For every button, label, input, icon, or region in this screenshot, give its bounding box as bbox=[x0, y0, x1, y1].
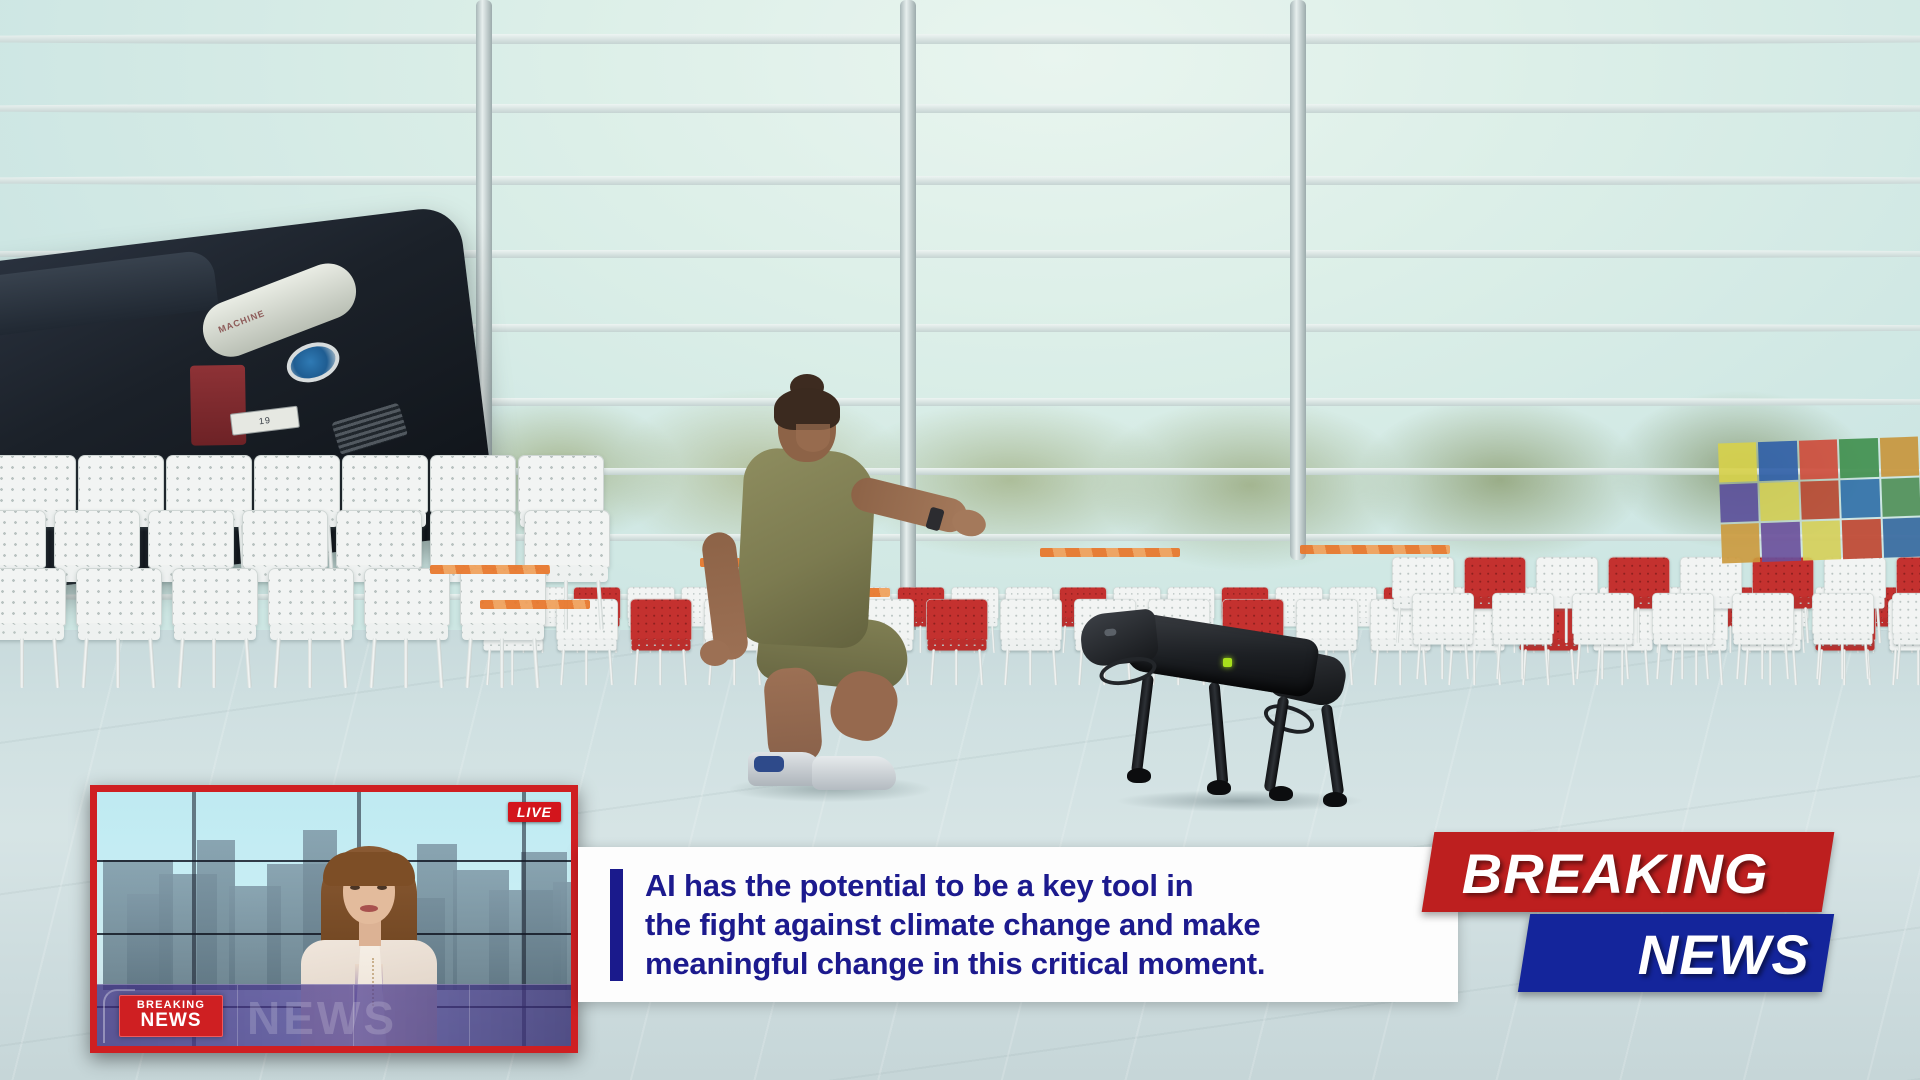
vehicle-cylinder-label: MACHINE bbox=[217, 308, 266, 335]
chair-leg bbox=[1718, 649, 1723, 685]
chair-back bbox=[1572, 593, 1634, 635]
chair-leg bbox=[177, 638, 184, 688]
chair-leg bbox=[1704, 643, 1709, 679]
chair-leg bbox=[81, 638, 88, 688]
chair-leg bbox=[1784, 643, 1789, 679]
chair-back bbox=[336, 510, 422, 568]
dome-ring bbox=[0, 34, 1920, 44]
crate bbox=[1800, 480, 1840, 520]
chair bbox=[1572, 593, 1634, 679]
chair-leg bbox=[52, 638, 59, 688]
chair-back bbox=[364, 568, 450, 626]
chair-leg bbox=[1544, 643, 1549, 679]
crate bbox=[1879, 437, 1919, 477]
chair-back bbox=[518, 455, 604, 513]
caption-line-1: AI has the potential to be a key tool in bbox=[645, 866, 1265, 905]
chair-leg bbox=[148, 638, 155, 688]
robot-foot-rear-near bbox=[1269, 786, 1293, 801]
chair bbox=[1492, 593, 1554, 679]
person-torso bbox=[735, 447, 877, 650]
crate bbox=[1881, 477, 1920, 517]
pip-breaking-news-badge: BREAKING NEWS bbox=[119, 995, 223, 1037]
chair-back bbox=[1652, 593, 1714, 635]
crate bbox=[1882, 518, 1920, 558]
pip-lower-third: NEWS BREAKING NEWS bbox=[97, 984, 571, 1046]
chair-leg bbox=[1441, 643, 1444, 679]
chair-back bbox=[1892, 593, 1920, 635]
chair-leg bbox=[659, 649, 662, 685]
crate bbox=[1760, 481, 1800, 521]
chair-leg bbox=[436, 638, 443, 688]
chair-back bbox=[268, 568, 354, 626]
dome-ring bbox=[0, 104, 1920, 113]
chair bbox=[0, 568, 66, 688]
robot-sensor-eye bbox=[1104, 628, 1117, 636]
crate bbox=[1839, 438, 1879, 478]
chair bbox=[1892, 593, 1920, 679]
crate bbox=[1719, 483, 1759, 523]
chair bbox=[172, 568, 258, 688]
person-shoe-right bbox=[812, 756, 896, 790]
crate bbox=[1840, 479, 1880, 519]
chair-leg bbox=[1029, 649, 1032, 685]
chair bbox=[1812, 593, 1874, 679]
logo-news-bar: NEWS bbox=[1518, 914, 1834, 992]
chair-leg bbox=[978, 649, 983, 685]
chair-leg bbox=[991, 625, 995, 653]
person-crouching bbox=[700, 372, 960, 832]
live-badge: LIVE bbox=[508, 802, 561, 822]
chair-back bbox=[430, 510, 516, 568]
robot-leg-front-far bbox=[1208, 682, 1228, 787]
pip-divider-2 bbox=[353, 985, 354, 1046]
chair-leg bbox=[1576, 643, 1581, 679]
chair bbox=[1652, 593, 1714, 679]
robot-leg-rear-far bbox=[1321, 704, 1345, 797]
picture-in-picture-feed[interactable]: LIVE NEWS BREAKING NEWS bbox=[90, 785, 578, 1053]
chair-leg bbox=[116, 638, 120, 688]
chair bbox=[76, 568, 162, 688]
chair-leg bbox=[596, 580, 603, 630]
chair-leg bbox=[1416, 643, 1421, 679]
chair-leg bbox=[1681, 643, 1684, 679]
chair-back bbox=[54, 510, 140, 568]
chair-leg bbox=[1736, 643, 1741, 679]
logo-news-text: NEWS bbox=[1638, 922, 1810, 987]
chair-leg bbox=[1896, 643, 1901, 679]
chair-leg bbox=[1062, 625, 1066, 653]
caption-accent-bar bbox=[610, 869, 623, 981]
caption-line-3: meaningful change in this critical momen… bbox=[645, 944, 1265, 983]
chair-leg bbox=[273, 638, 280, 688]
chair-back bbox=[78, 455, 164, 513]
chair-leg bbox=[1004, 649, 1009, 685]
chair-leg bbox=[585, 649, 588, 685]
crate bbox=[1761, 522, 1801, 562]
chair-leg bbox=[608, 649, 613, 685]
vehicle-windshield bbox=[0, 249, 219, 339]
chair-back bbox=[342, 455, 428, 513]
crate bbox=[1758, 441, 1798, 481]
chair-leg bbox=[1761, 643, 1764, 679]
chair-back bbox=[1412, 593, 1474, 635]
chair-leg bbox=[1565, 607, 1568, 643]
chair-back bbox=[76, 568, 162, 626]
anchor-hair-front bbox=[323, 852, 415, 886]
chair-back bbox=[166, 455, 252, 513]
robot-foot-front-near bbox=[1127, 768, 1151, 783]
chair-back bbox=[0, 568, 66, 626]
pip-ghost-text: NEWS bbox=[247, 991, 397, 1045]
dome-ring bbox=[0, 176, 1920, 185]
chair-leg bbox=[1601, 643, 1604, 679]
chair-leg bbox=[1399, 649, 1402, 685]
caption-panel: AI has the potential to be a key tool in… bbox=[578, 847, 1458, 1002]
chair bbox=[1000, 599, 1062, 685]
chair-back bbox=[1492, 593, 1554, 635]
hazard-tape bbox=[1040, 548, 1180, 557]
dome-mast-right bbox=[1290, 0, 1306, 560]
vehicle-headlamp bbox=[281, 336, 344, 390]
robot-leg-front-near bbox=[1131, 674, 1154, 775]
chair-leg bbox=[1637, 607, 1640, 643]
chair-leg bbox=[560, 649, 565, 685]
chair-leg bbox=[308, 638, 312, 688]
crate bbox=[1802, 521, 1842, 561]
crate bbox=[1718, 442, 1758, 482]
caption-text: AI has the potential to be a key tool in… bbox=[645, 866, 1265, 983]
chair-leg bbox=[212, 638, 216, 688]
chair bbox=[460, 568, 546, 688]
chair-back bbox=[524, 510, 610, 568]
pip-divider-3 bbox=[469, 985, 470, 1046]
chair-back bbox=[430, 455, 516, 513]
chair-leg bbox=[1624, 643, 1629, 679]
chair-leg bbox=[1052, 649, 1057, 685]
chair-back bbox=[630, 599, 692, 641]
chair-back bbox=[1732, 593, 1794, 635]
caption-line-2: the fight against climate change and mak… bbox=[645, 905, 1265, 944]
chair-back bbox=[0, 455, 76, 513]
chair-leg bbox=[1496, 643, 1501, 679]
breaking-news-logo: BREAKING NEWS bbox=[1428, 832, 1828, 992]
chair-leg bbox=[634, 649, 639, 685]
chair-leg bbox=[20, 638, 24, 688]
chair bbox=[268, 568, 354, 688]
robot-foot-rear-far bbox=[1323, 792, 1347, 807]
person-jaw-shadow bbox=[796, 424, 830, 452]
robot-dog bbox=[1075, 608, 1375, 808]
chair-back bbox=[242, 510, 328, 568]
chair-back bbox=[460, 568, 546, 626]
chair-leg bbox=[1464, 643, 1469, 679]
hazard-tape bbox=[480, 600, 590, 609]
chair-leg bbox=[244, 638, 251, 688]
person-shin bbox=[763, 666, 824, 766]
robot-foot-front-far bbox=[1207, 780, 1231, 795]
chair bbox=[1412, 593, 1474, 679]
chair-leg bbox=[1804, 607, 1809, 643]
chair-leg bbox=[1396, 607, 1401, 643]
chair-leg bbox=[1841, 643, 1844, 679]
chair-back bbox=[254, 455, 340, 513]
pip-badge-line2: NEWS bbox=[120, 1011, 222, 1031]
chair-leg bbox=[682, 649, 687, 685]
chair-leg bbox=[1876, 607, 1881, 643]
vehicle-vent bbox=[331, 402, 408, 455]
chair-leg bbox=[340, 638, 347, 688]
chair-leg bbox=[465, 638, 472, 688]
crate bbox=[1842, 519, 1882, 559]
chair bbox=[364, 568, 450, 688]
chair-leg bbox=[369, 638, 376, 688]
crate bbox=[1799, 439, 1839, 479]
chair bbox=[1732, 593, 1794, 679]
logo-breaking-bar: BREAKING bbox=[1422, 832, 1835, 912]
anchor-lips bbox=[360, 905, 378, 912]
chair-leg bbox=[532, 638, 539, 688]
chair bbox=[630, 599, 692, 685]
robot-rear-handle bbox=[1260, 699, 1317, 740]
chair-back bbox=[0, 510, 46, 568]
color-crates bbox=[1718, 437, 1920, 564]
crate bbox=[1721, 523, 1761, 563]
chair-leg bbox=[1521, 643, 1524, 679]
chair-back bbox=[172, 568, 258, 626]
logo-breaking-text: BREAKING bbox=[1462, 841, 1769, 906]
chair-leg bbox=[1656, 643, 1661, 679]
robot-status-led bbox=[1223, 658, 1232, 667]
person-shoe-left bbox=[748, 752, 822, 786]
chair-leg bbox=[404, 638, 408, 688]
chair-leg bbox=[1816, 643, 1821, 679]
chair-back bbox=[1000, 599, 1062, 641]
vehicle-cylinder: MACHINE bbox=[195, 255, 364, 365]
chair-back bbox=[148, 510, 234, 568]
chair-back bbox=[1812, 593, 1874, 635]
pip-divider-1 bbox=[237, 985, 238, 1046]
chair-leg bbox=[500, 638, 504, 688]
broadcast-screen: MACHINE 19 bbox=[0, 0, 1920, 1080]
chair-leg bbox=[1644, 649, 1649, 685]
chair-leg bbox=[1864, 643, 1869, 679]
person-hand-left bbox=[700, 640, 730, 666]
hazard-tape bbox=[430, 565, 550, 574]
hazard-tape bbox=[1300, 545, 1450, 554]
